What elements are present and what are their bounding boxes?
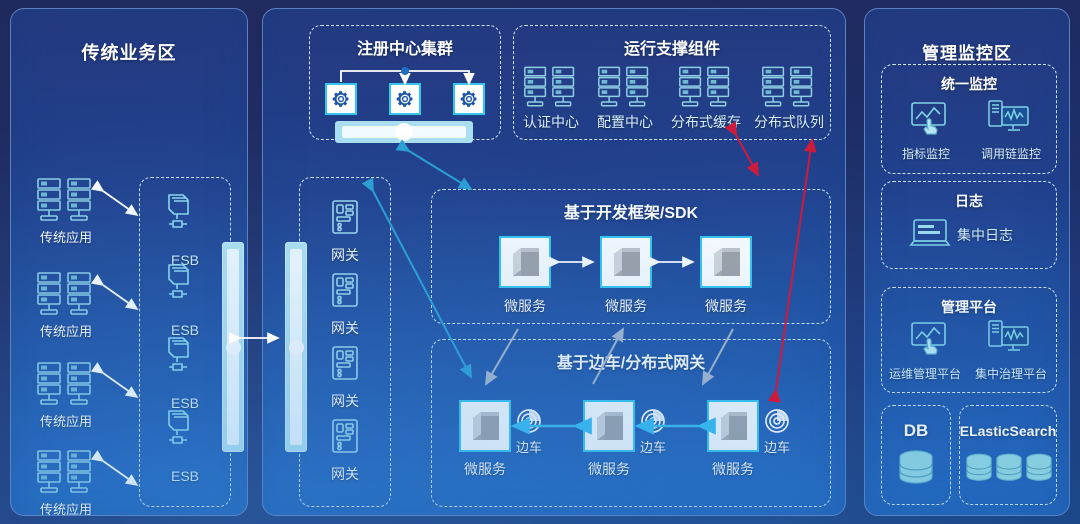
microservice-label: 微服务 <box>586 296 666 316</box>
server-rack-icon <box>760 65 818 109</box>
gateway-label: 网关 <box>299 464 391 484</box>
trace-monitor-icon <box>987 99 1031 135</box>
gateway-icon <box>329 199 363 237</box>
sidecar-icon <box>763 407 791 435</box>
gear-icon <box>395 89 415 109</box>
microservice-tile <box>499 236 551 288</box>
microservice-label: 微服务 <box>693 459 773 479</box>
microservice-tile <box>700 236 752 288</box>
registry-cluster-title: 注册中心集群 <box>309 35 501 59</box>
platform-item-label: 运维管理平台 <box>877 365 973 382</box>
bus-bar-knob <box>289 340 304 355</box>
sidecar-label: 边车 <box>623 437 683 456</box>
zone-management-title: 管理监控区 <box>865 39 1069 64</box>
gateway-label: 网关 <box>299 391 391 411</box>
gateway-icon <box>329 272 363 310</box>
database-icon <box>1025 452 1053 488</box>
runtime-components-title: 运行支撑组件 <box>513 35 831 59</box>
legacy-app-label: 传统应用 <box>21 227 111 246</box>
server-rack-icon <box>677 65 735 109</box>
monitor-item-label: 指标监控 <box>881 145 971 162</box>
unified-monitoring-title: 统一监控 <box>881 74 1057 94</box>
sidecar-icon <box>515 407 543 435</box>
microservice-label: 微服务 <box>445 459 525 479</box>
zone-legacy-business: 传统业务区 传统应用 <box>10 8 248 516</box>
esb-label: ESB <box>139 468 231 484</box>
database-icon <box>965 452 993 488</box>
microservice-label: 微服务 <box>569 459 649 479</box>
log-title: 日志 <box>881 191 1057 211</box>
cube-icon <box>602 238 650 286</box>
gateway-icon <box>329 418 363 456</box>
cube-icon <box>501 238 549 286</box>
laptop-icon <box>909 217 951 251</box>
server-rack-icon <box>596 65 654 109</box>
gear-icon <box>331 89 351 109</box>
log-item-label: 集中日志 <box>957 225 1049 245</box>
esb-icon <box>161 261 197 303</box>
legacy-app-label: 传统应用 <box>21 411 111 430</box>
microservice-label: 微服务 <box>686 296 766 316</box>
registry-node-tile <box>453 83 485 115</box>
sdk-framework-title: 基于开发框架/SDK <box>431 199 831 223</box>
server-rack-icon <box>522 65 580 109</box>
architecture-diagram: 传统业务区 传统应用 <box>0 0 1080 524</box>
gateway-bus-bar <box>285 242 307 452</box>
gear-icon <box>459 89 479 109</box>
registry-bus-knob <box>395 123 413 141</box>
sidecar-gateway-title: 基于边车/分布式网关 <box>431 349 831 373</box>
monitor-item-label: 调用链监控 <box>965 145 1057 162</box>
esb-bus-bar <box>222 242 244 452</box>
runtime-item-label: 分布式缓存 <box>659 112 753 132</box>
platform-item-label: 集中治理平台 <box>963 365 1059 382</box>
esb-icon <box>161 191 197 233</box>
runtime-item-label: 分布式队列 <box>742 112 836 132</box>
runtime-item-label: 配置中心 <box>585 112 665 132</box>
sidecar-label: 边车 <box>499 437 559 456</box>
ops-platform-icon <box>909 321 949 355</box>
database-icon <box>897 449 935 491</box>
sidecar-label: 边车 <box>747 437 807 456</box>
gateway-label: 网关 <box>299 318 391 338</box>
gateway-icon <box>329 345 363 383</box>
esb-icon <box>161 407 197 449</box>
microservice-tile <box>600 236 652 288</box>
legacy-app-label: 传统应用 <box>21 499 111 516</box>
bus-bar-knob <box>226 340 241 355</box>
server-rack-icon <box>35 177 97 223</box>
zone-microservice-core: 网关 网关 <box>262 8 846 516</box>
database-icon <box>995 452 1023 488</box>
microservice-label: 微服务 <box>485 296 565 316</box>
db-title: DB <box>881 421 951 441</box>
metrics-monitor-icon <box>909 101 949 135</box>
cube-icon <box>702 238 750 286</box>
legacy-app-label: 传统应用 <box>21 321 111 340</box>
esb-icon <box>161 334 197 376</box>
registry-node-tile <box>389 83 421 115</box>
elasticsearch-title: ELasticSearch <box>959 423 1057 439</box>
runtime-item-label: 认证中心 <box>511 112 591 132</box>
server-rack-icon <box>35 361 97 407</box>
governance-platform-icon <box>987 319 1031 355</box>
server-rack-icon <box>35 271 97 317</box>
management-platform-title: 管理平台 <box>881 297 1057 317</box>
server-rack-icon <box>35 449 97 495</box>
registry-bus-bar <box>335 121 473 143</box>
zone-management-monitoring: 管理监控区 统一监控 指标监控 <box>864 8 1070 516</box>
gateway-label: 网关 <box>299 245 391 265</box>
sidecar-icon <box>639 407 667 435</box>
zone-legacy-title: 传统业务区 <box>11 39 247 65</box>
registry-node-tile <box>325 83 357 115</box>
